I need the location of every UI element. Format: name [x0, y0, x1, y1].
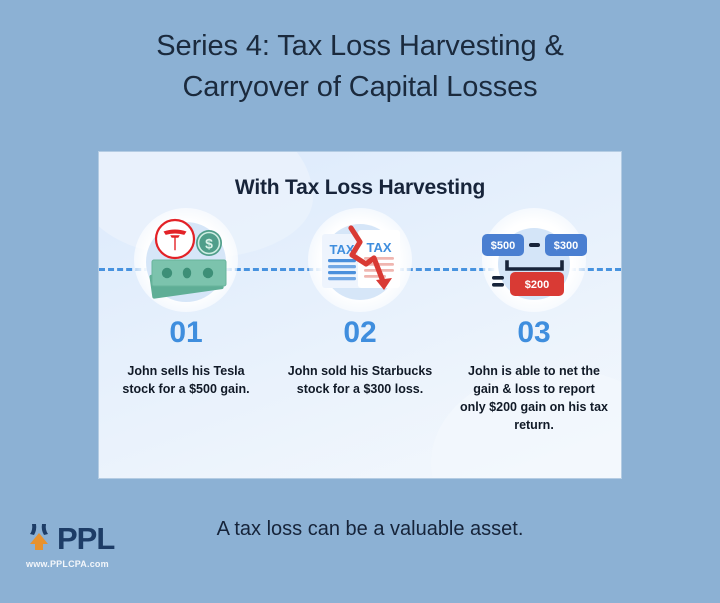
slide-root: Series 4: Tax Loss Harvesting & Carryove… — [0, 0, 720, 603]
gain-amount-label: $500 — [491, 240, 515, 252]
page-title-line-1: Series 4: Tax Loss Harvesting & — [0, 26, 720, 67]
step-number-03: 03 — [517, 318, 550, 348]
svg-text:$: $ — [205, 236, 213, 252]
infographic-card: With Tax Loss Harvesting $ — [99, 152, 621, 478]
step-item-01: $ — [99, 208, 273, 398]
step-caption-02: John sold his Starbucks stock for a $300… — [285, 362, 435, 398]
net-amount-label: $200 — [525, 279, 549, 291]
tesla-stock-cash-icon: $ — [123, 208, 249, 312]
loss-amount-label: $300 — [554, 240, 578, 252]
tax-documents-loss-chart-icon: TAX TAX — [297, 208, 423, 312]
net-gain-calculation-icon: $500 $300 $200 — [471, 208, 597, 312]
step-caption-03: John is able to net the gain & loss to r… — [459, 362, 609, 434]
steps-list: $ — [99, 208, 621, 478]
page-title: Series 4: Tax Loss Harvesting & Carryove… — [0, 26, 720, 108]
tagline: A tax loss can be a valuable asset. — [150, 518, 590, 541]
net-gain-calculation-graphic: $500 $300 $200 — [476, 212, 592, 308]
ppl-arrow-mark-icon — [26, 521, 54, 556]
step-number-01: 01 — [169, 318, 202, 348]
logo-url: www.PPLCPA.com — [26, 559, 146, 569]
logo-wordmark: PPL — [57, 523, 114, 554]
logo-row: PPL — [26, 521, 146, 556]
ppl-logo: PPL www.PPLCPA.com — [26, 521, 146, 569]
page-title-line-2: Carryover of Capital Losses — [0, 67, 720, 108]
step-item-02: TAX TAX — [273, 208, 447, 398]
step-caption-01: John sells his Tesla stock for a $500 ga… — [111, 362, 261, 398]
tax-documents-loss-graphic: TAX TAX — [306, 212, 414, 308]
tesla-stock-cash-graphic: $ — [132, 212, 240, 308]
svg-text:TAX: TAX — [366, 240, 391, 255]
step-item-03: $500 $300 $200 — [447, 208, 621, 434]
step-number-02: 02 — [343, 318, 376, 348]
card-heading: With Tax Loss Harvesting — [99, 176, 621, 200]
